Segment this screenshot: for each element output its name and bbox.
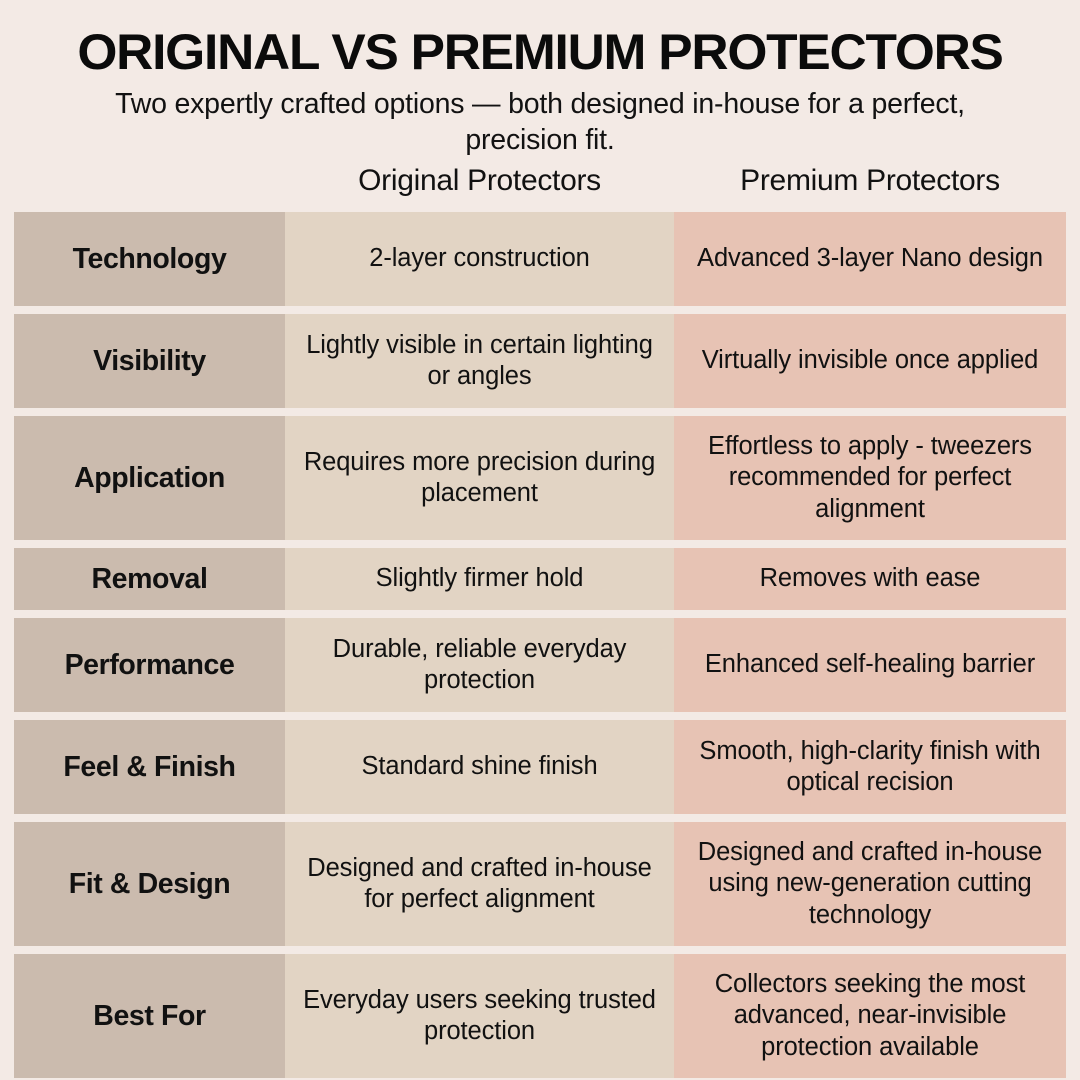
cell-text: Slightly firmer hold (299, 563, 660, 594)
cell-text: Virtually invisible once applied (688, 345, 1052, 376)
comparison-infographic: ORIGINAL VS PREMIUM PROTECTORS Two exper… (0, 0, 1080, 1080)
table-row: Feel & Finish Standard shine finish Smoo… (14, 720, 1066, 814)
table-row: Best For Everyday users seeking trusted … (14, 954, 1066, 1078)
cell-premium-technology: Advanced 3-layer Nano design (674, 212, 1066, 306)
page-subtitle: Two expertly crafted options — both desi… (60, 87, 1020, 158)
row-label-fit-and-design: Fit & Design (14, 822, 285, 946)
cell-text: Smooth, high-clarity finish with optical… (688, 736, 1052, 798)
cell-premium-best-for: Collectors seeking the most advanced, ne… (674, 954, 1066, 1078)
cell-text: Performance (28, 648, 271, 683)
cell-text: Effortless to apply - tweezers recommend… (688, 431, 1052, 524)
cell-text: Everyday users seeking trusted protectio… (299, 985, 660, 1047)
row-label-removal: Removal (14, 548, 285, 610)
cell-text: Application (28, 461, 271, 496)
table-row: Removal Slightly firmer hold Removes wit… (14, 548, 1066, 610)
table-row: Technology 2-layer construction Advanced… (14, 212, 1066, 306)
table-row: Application Requires more precision duri… (14, 416, 1066, 540)
column-header-premium: Premium Protectors (674, 166, 1066, 212)
cell-text: Feel & Finish (28, 750, 271, 785)
cell-premium-feel-and-finish: Smooth, high-clarity finish with optical… (674, 720, 1066, 814)
cell-text: Fit & Design (28, 867, 271, 902)
cell-original-application: Requires more precision during placement (285, 416, 674, 540)
table-row: Performance Durable, reliable everyday p… (14, 618, 1066, 712)
cell-premium-application: Effortless to apply - tweezers recommend… (674, 416, 1066, 540)
cell-text: Removes with ease (688, 563, 1052, 594)
cell-text: Removal (28, 562, 271, 597)
cell-original-feel-and-finish: Standard shine finish (285, 720, 674, 814)
row-label-technology: Technology (14, 212, 285, 306)
row-label-application: Application (14, 416, 285, 540)
page-title: ORIGINAL VS PREMIUM PROTECTORS (6, 26, 1073, 78)
cell-premium-removal: Removes with ease (674, 548, 1066, 610)
row-label-visibility: Visibility (14, 314, 285, 408)
cell-original-visibility: Lightly visible in certain lighting or a… (285, 314, 674, 408)
cell-original-performance: Durable, reliable everyday protection (285, 618, 674, 712)
cell-text: Technology (28, 242, 271, 277)
column-header-original: Original Protectors (285, 166, 674, 212)
cell-premium-performance: Enhanced self-healing barrier (674, 618, 1066, 712)
cell-text: Visibility (28, 344, 271, 379)
column-header-spacer (14, 166, 285, 212)
table-row: Visibility Lightly visible in certain li… (14, 314, 1066, 408)
cell-premium-visibility: Virtually invisible once applied (674, 314, 1066, 408)
cell-text: Best For (28, 999, 271, 1034)
column-header-row: Original Protectors Premium Protectors (14, 166, 1066, 212)
cell-premium-fit-and-design: Designed and crafted in-house using new-… (674, 822, 1066, 946)
cell-text: Durable, reliable everyday protection (299, 634, 660, 696)
cell-original-removal: Slightly firmer hold (285, 548, 674, 610)
cell-original-fit-and-design: Designed and crafted in-house for perfec… (285, 822, 674, 946)
table-row: Fit & Design Designed and crafted in-hou… (14, 822, 1066, 946)
cell-text: Advanced 3-layer Nano design (688, 243, 1052, 274)
row-label-feel-and-finish: Feel & Finish (14, 720, 285, 814)
cell-text: Requires more precision during placement (299, 447, 660, 509)
cell-text: Enhanced self-healing barrier (688, 649, 1052, 680)
cell-text: Collectors seeking the most advanced, ne… (688, 969, 1052, 1062)
cell-text: Designed and crafted in-house for perfec… (299, 853, 660, 915)
cell-text: Designed and crafted in-house using new-… (688, 837, 1052, 930)
cell-text: Lightly visible in certain lighting or a… (299, 330, 660, 392)
comparison-table: Technology 2-layer construction Advanced… (14, 212, 1066, 1078)
cell-original-technology: 2-layer construction (285, 212, 674, 306)
header-block: ORIGINAL VS PREMIUM PROTECTORS Two exper… (0, 0, 1080, 158)
cell-text: 2-layer construction (299, 243, 660, 274)
cell-original-best-for: Everyday users seeking trusted protectio… (285, 954, 674, 1078)
cell-text: Standard shine finish (299, 751, 660, 782)
row-label-best-for: Best For (14, 954, 285, 1078)
row-label-performance: Performance (14, 618, 285, 712)
